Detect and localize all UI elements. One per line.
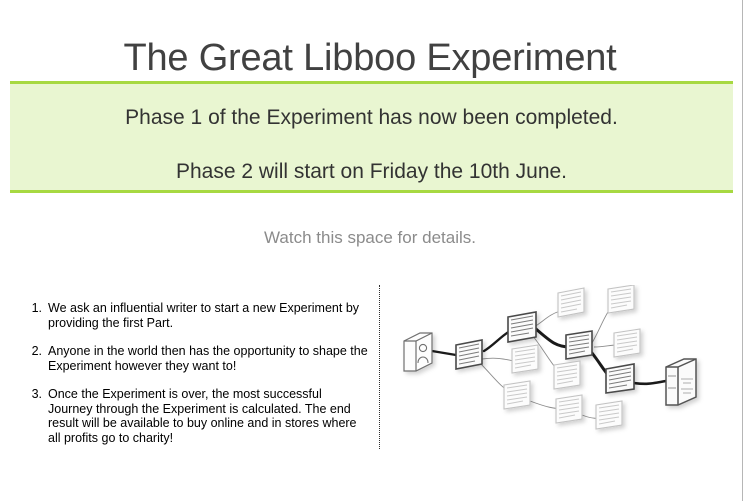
banner-line-phase-1: Phase 1 of the Experiment has now been c… xyxy=(10,106,733,130)
document-card-icon xyxy=(504,381,530,409)
list-item-number: 2. xyxy=(24,344,42,359)
list-item-number: 3. xyxy=(24,387,42,402)
subtitle-text: Watch this space for details. xyxy=(0,228,740,248)
document-card-icon xyxy=(614,329,640,357)
window-right-edge xyxy=(742,0,743,501)
document-card-icon xyxy=(554,361,580,389)
experiment-journey-diagram xyxy=(396,285,736,455)
document-card-icon xyxy=(456,340,482,369)
book-icon xyxy=(666,359,696,405)
list-item: 1. We ask an influential writer to start… xyxy=(24,301,369,330)
vertical-divider xyxy=(379,285,380,449)
person-card-icon xyxy=(404,333,432,371)
list-item-text: We ask an influential writer to start a … xyxy=(48,301,359,330)
list-item: 2. Anyone in the world then has the oppo… xyxy=(24,344,369,373)
list-item: 3. Once the Experiment is over, the most… xyxy=(24,387,369,445)
document-card-icon xyxy=(596,401,622,429)
document-card-icon xyxy=(566,331,592,359)
page-root: The Great Libboo Experiment Phase 1 of t… xyxy=(0,0,749,501)
document-card-icon xyxy=(558,288,584,317)
steps-list: 1. We ask an influential writer to start… xyxy=(24,301,369,459)
content-area: 1. We ask an influential writer to start… xyxy=(0,285,749,475)
document-card-icon xyxy=(512,345,538,373)
document-card-icon xyxy=(606,364,634,393)
document-card-icon xyxy=(508,312,536,342)
banner-line-phase-2: Phase 2 will start on Friday the 10th Ju… xyxy=(10,160,733,184)
document-card-icon xyxy=(608,285,634,313)
announcement-banner: Phase 1 of the Experiment has now been c… xyxy=(10,81,733,193)
list-item-text: Anyone in the world then has the opportu… xyxy=(48,344,368,373)
diagram-edges-branch xyxy=(480,309,616,418)
page-title: The Great Libboo Experiment xyxy=(0,33,740,83)
list-item-number: 1. xyxy=(24,301,42,316)
list-item-text: Once the Experiment is over, the most su… xyxy=(48,387,357,445)
document-card-icon xyxy=(556,395,582,423)
